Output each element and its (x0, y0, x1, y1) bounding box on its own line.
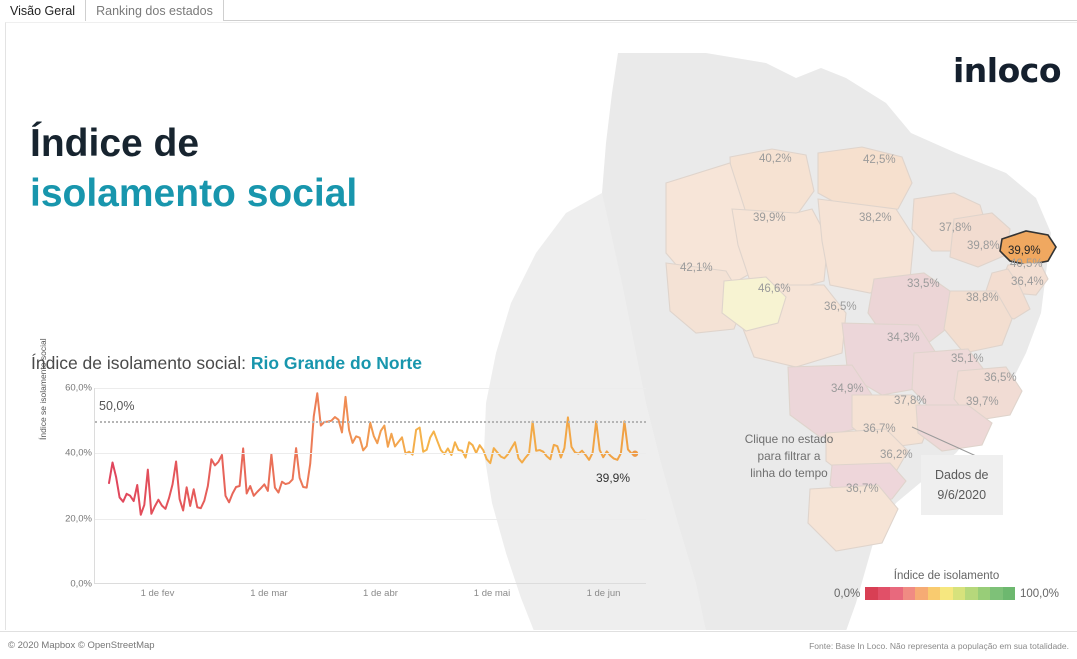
chart-x-tick-0: 1 de fev (141, 588, 175, 599)
legend-scale: 0,0% 100,0% (834, 587, 1059, 600)
map-state-selected[interactable] (1000, 231, 1056, 265)
callout-line1: Dados de (935, 465, 989, 485)
chart-heading-state: Rio Grande do Norte (251, 353, 422, 373)
legend-swatch-9 (978, 587, 990, 600)
data-date-callout: Dados de 9/6/2020 (921, 455, 1003, 515)
chart-plot-area[interactable]: 50,0% (94, 388, 646, 584)
callout-line2: 9/6/2020 (935, 485, 989, 505)
legend-title: Índice de isolamento (834, 570, 1059, 582)
legend-min-label: 0,0% (834, 588, 860, 600)
legend-swatch-4 (915, 587, 927, 600)
tab-ranking-estados[interactable]: Ranking dos estados (86, 0, 224, 21)
chart-end-value-label: 39,9% (596, 471, 630, 485)
legend-swatch-6 (940, 587, 952, 600)
legend-swatch-3 (903, 587, 915, 600)
dashboard-root: Visão Geral Ranking dos estados (0, 0, 1077, 659)
tab-ranking-estados-label: Ranking dos estados (96, 4, 213, 18)
chart-x-tick-1: 1 de mar (250, 588, 288, 599)
legend-swatch-2 (890, 587, 902, 600)
chart-line-svg (95, 388, 647, 584)
chart-y-tick-0: 0,0% (52, 579, 92, 590)
map-hint-line1: Clique no estado (724, 431, 854, 448)
chart-y-tick-2: 40,0% (52, 448, 92, 459)
chart-heading-prefix: Índice de isolamento social: (31, 353, 251, 373)
tab-visao-geral[interactable]: Visão Geral (0, 0, 86, 21)
chart-reference-label: 50,0% (99, 399, 134, 413)
chart-y-axis-label: Índice se isolamento social (38, 338, 48, 440)
legend-swatch-8 (965, 587, 977, 600)
legend-swatch-1 (878, 587, 890, 600)
map-attribution: © 2020 Mapbox © OpenStreetMap (8, 640, 155, 651)
data-source-note: Fonte: Base In Loco. Não representa a po… (809, 641, 1069, 651)
map-legend: Índice de isolamento 0,0% 100,0% (834, 570, 1059, 600)
tab-visao-geral-label: Visão Geral (10, 4, 75, 18)
chart-heading: Índice de isolamento social: Rio Grande … (31, 353, 422, 374)
map-click-hint: Clique no estado para filtrar a linha do… (724, 431, 854, 482)
dashboard-canvas: 40,2%42,5%39,9%38,2%37,8%39,8%42,1%40,5%… (5, 22, 1077, 630)
footer-bar: © 2020 Mapbox © OpenStreetMap Fonte: Bas… (0, 631, 1077, 659)
legend-swatch-7 (953, 587, 965, 600)
legend-gradient-bar (865, 587, 1015, 600)
chart-gridline-3 (95, 388, 646, 389)
chart-x-tick-3: 1 de mai (474, 588, 510, 599)
tab-bar: Visão Geral Ranking dos estados (0, 0, 1077, 21)
page-title: Índice de isolamento social (30, 119, 357, 219)
legend-max-label: 100,0% (1020, 588, 1059, 600)
chart-y-tick-3: 60,0% (52, 383, 92, 394)
chart-y-ticks: 0,0%20,0%40,0%60,0% (48, 388, 92, 584)
chart-y-tick-1: 20,0% (52, 513, 92, 524)
page-title-line1: Índice de (30, 119, 357, 169)
inloco-logo: inloco (953, 51, 1061, 90)
chart-x-ticks: 1 de fev1 de mar1 de abr1 de mai1 de jun (94, 588, 646, 612)
legend-swatch-0 (865, 587, 877, 600)
tab-bar-filler (224, 0, 1077, 20)
chart-gridline-1 (95, 519, 646, 520)
chart-x-tick-2: 1 de abr (363, 588, 398, 599)
timeline-chart[interactable]: Índice se isolamento social 0,0%20,0%40,… (34, 388, 646, 618)
chart-x-tick-4: 1 de jun (587, 588, 621, 599)
chart-gridline-2 (95, 453, 646, 454)
page-title-line2: isolamento social (30, 169, 357, 219)
map-hint-line2: para filtrar a (724, 448, 854, 465)
legend-swatch-5 (928, 587, 940, 600)
legend-swatch-11 (1003, 587, 1015, 600)
map-hint-line3: linha do tempo (724, 465, 854, 482)
legend-swatch-10 (990, 587, 1002, 600)
chart-reference-line (95, 421, 646, 423)
